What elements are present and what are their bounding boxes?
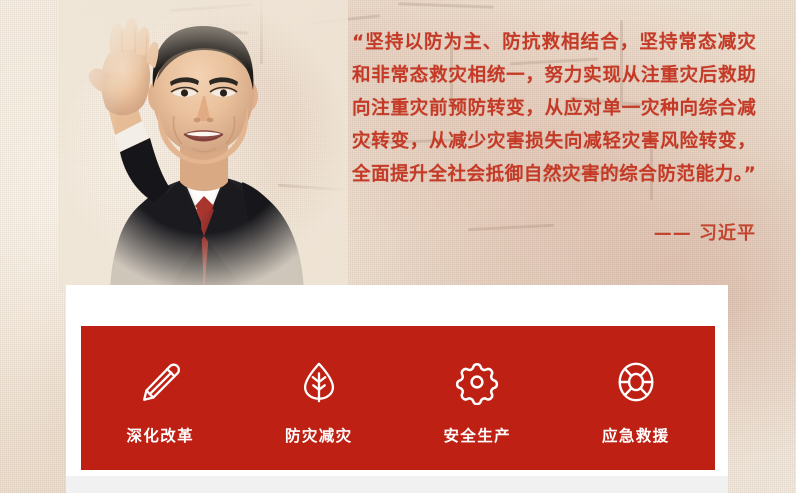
category-nav-bar: 深化改革 防灾减灾 安全生产 bbox=[81, 326, 715, 470]
quote-block: “坚持以防为主、防抗救相结合，坚持常态减灾和非常态救灾相统一，努力实现从注重灾后… bbox=[352, 26, 756, 245]
leaf-icon bbox=[294, 357, 344, 407]
nav-label: 安全生产 bbox=[443, 429, 511, 445]
nav-label: 防灾减灾 bbox=[285, 429, 353, 445]
nav-item-work-safety[interactable]: 安全生产 bbox=[398, 326, 557, 470]
nav-label: 深化改革 bbox=[126, 429, 194, 445]
page-root: “坚持以防为主、防抗救相结合，坚持常态减灾和非常态救灾相统一，努力实现从注重灾后… bbox=[0, 0, 796, 493]
card-footer-strip bbox=[66, 476, 728, 493]
nav-label: 应急救援 bbox=[602, 429, 670, 445]
pencil-icon bbox=[135, 357, 185, 407]
life-ring-icon bbox=[611, 357, 661, 407]
portrait-photo bbox=[58, 0, 348, 292]
quote-attribution: —— 习近平 bbox=[352, 219, 756, 245]
nav-item-disaster-prevention[interactable]: 防灾减灾 bbox=[240, 326, 399, 470]
nav-item-emergency-rescue[interactable]: 应急救援 bbox=[557, 326, 716, 470]
nav-item-deepen-reform[interactable]: 深化改革 bbox=[81, 326, 240, 470]
gear-icon bbox=[452, 357, 502, 407]
quote-text: “坚持以防为主、防抗救相结合，坚持常态减灾和非常态救灾相统一，努力实现从注重灾后… bbox=[352, 26, 756, 191]
